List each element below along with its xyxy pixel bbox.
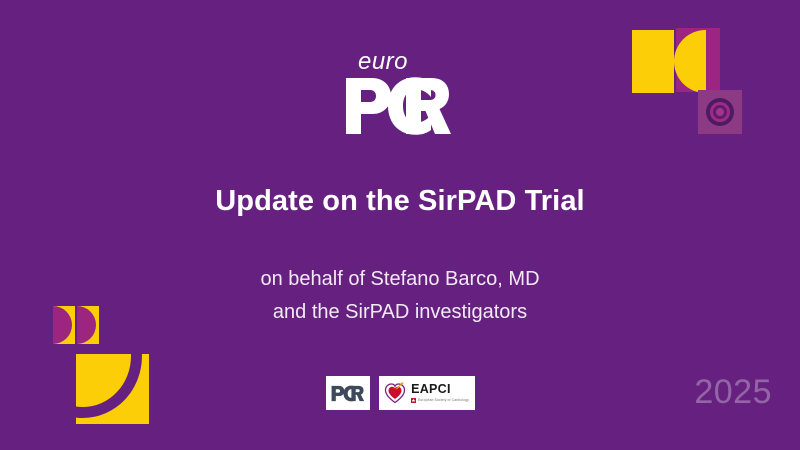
pcr-logo xyxy=(326,376,370,410)
presentation-title-slide: euro Update on the SirPAD Trial on behal… xyxy=(0,0,800,450)
subtitle-line-1: on behalf of Stefano Barco, MD xyxy=(0,263,800,296)
eapci-heart-icon xyxy=(384,382,406,404)
europcr-logo-pcr-mark xyxy=(344,76,456,141)
slide-title: Update on the SirPAD Trial xyxy=(0,185,800,218)
slide-subtitle: on behalf of Stefano Barco, MD and the S… xyxy=(0,263,800,329)
eapci-tagline-row: European Society of Cardiology xyxy=(411,398,469,403)
eapci-logo: EAPCI European Society of Cardiology xyxy=(379,376,475,410)
europcr-logo: euro xyxy=(0,50,800,146)
europcr-logo-euro-text: euro xyxy=(358,50,408,74)
footer-logos: EAPCI European Society of Cardiology xyxy=(0,376,800,410)
eapci-text-block: EAPCI European Society of Cardiology xyxy=(411,383,469,404)
eapci-name: EAPCI xyxy=(411,383,451,396)
eapci-tagline: European Society of Cardiology xyxy=(418,399,469,402)
esc-mark-icon xyxy=(411,398,416,403)
subtitle-line-2: and the SirPAD investigators xyxy=(0,296,800,329)
year-label: 2025 xyxy=(694,373,772,412)
